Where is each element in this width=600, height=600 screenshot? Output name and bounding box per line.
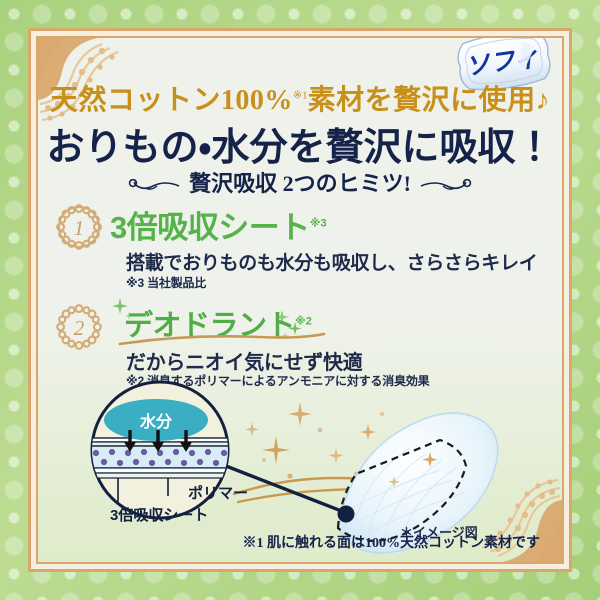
section-1-number: 1	[74, 216, 85, 240]
scalloped-circle-icon: 1	[56, 204, 102, 250]
polymer-label: ポリマー	[188, 484, 248, 502]
scalloped-circle-icon: 2	[56, 304, 102, 350]
section-2-number: 2	[74, 316, 85, 340]
advertisement-banner: ソフィ 天然コットン100%※1素材を贅沢に使用♪ おりもの・水分を贅沢に吸収！…	[0, 0, 600, 600]
gold-headline: 天然コットン100%※1素材を贅沢に使用♪	[38, 78, 562, 118]
content-panel: ソフィ 天然コットン100%※1素材を贅沢に使用♪ おりもの・水分を贅沢に吸収！…	[38, 38, 562, 562]
moisture-label: 水分	[139, 412, 173, 431]
swirl-left-icon	[127, 179, 181, 193]
footnote-mark-1: ※1	[293, 90, 308, 102]
gold-headline-prefix: 天然コットン100%	[50, 85, 293, 116]
footnote-mark-3: ※3	[310, 218, 327, 230]
section-1-heading-text: 3倍吸収シート	[110, 210, 310, 245]
swirl-right-icon	[419, 179, 473, 193]
section-2-heading: デオドラント※2	[124, 302, 312, 344]
bottom-footnote: ※1 肌に触れる面は100%天然コットン素材です	[243, 532, 541, 552]
footnote-mark-2: ※2	[295, 315, 312, 327]
gold-headline-suffix: 素材を贅沢に使用♪	[308, 85, 551, 116]
section-1-note: ※3 当社製品比	[126, 274, 206, 291]
main-headline: おりもの・水分を贅沢に吸収！	[38, 116, 562, 171]
cross-section-diagram: 水分	[86, 382, 248, 524]
section-2-body: だからニオイ気にせず快適	[126, 346, 362, 375]
section-1-heading: 3倍吸収シート※3	[110, 202, 327, 247]
sub-headline-text: 贅沢吸収 2つのヒミツ!	[189, 171, 411, 196]
sub-headline: 贅沢吸収 2つのヒミツ!	[38, 166, 562, 198]
section-2-badge: 2	[56, 304, 102, 350]
section-1-body: 搭載でおりものも水分も吸収し、さらさらキレイ	[126, 248, 537, 275]
sheet-label: 3倍吸収シート	[110, 506, 208, 524]
section-1-badge: 1	[56, 204, 102, 250]
section-2-heading-text: デオドラント	[124, 310, 295, 342]
